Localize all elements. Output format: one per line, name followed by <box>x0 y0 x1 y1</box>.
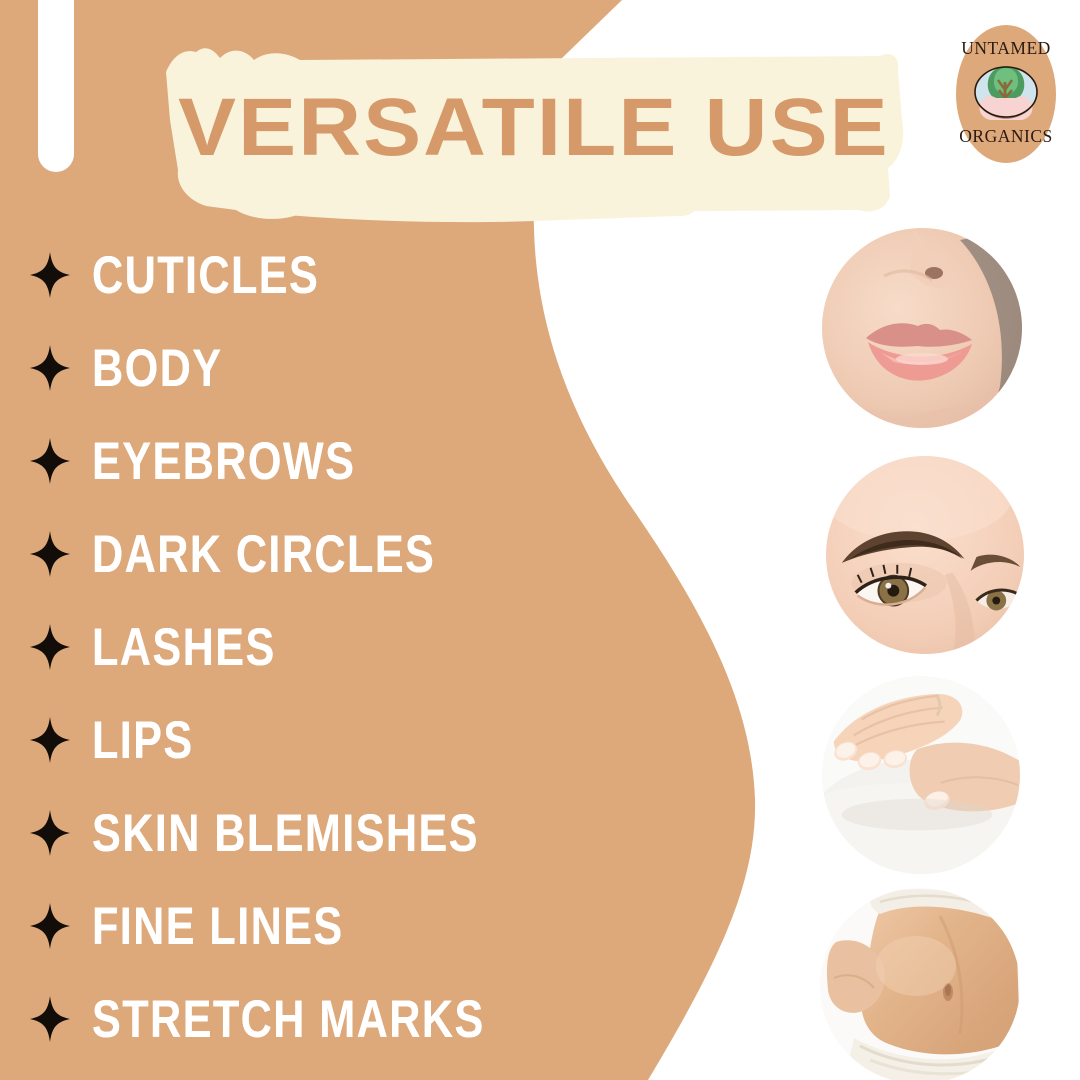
logo-plant-emblem <box>975 66 1037 120</box>
list-item-label: DARK CIRCLES <box>92 523 435 585</box>
list-item: SKIN BLEMISHES <box>0 786 560 879</box>
versatile-use-list: CUTICLES BODY EYEBROWS DARK CIRCLES LASH <box>0 228 560 1065</box>
four-point-star-icon <box>30 996 70 1042</box>
list-item-label: EYEBROWS <box>92 430 355 492</box>
list-item-label: SKIN BLEMISHES <box>92 802 479 864</box>
photo-lips-and-nose-closeup <box>822 228 1022 428</box>
four-point-star-icon <box>30 903 70 949</box>
four-point-star-icon <box>30 345 70 391</box>
list-item: CUTICLES <box>0 228 560 321</box>
four-point-star-icon <box>30 717 70 763</box>
photo-stomach-and-waist-closeup <box>820 888 1020 1080</box>
page-title: VERSATILE USE <box>178 76 941 180</box>
photo-eyebrow-and-eye-closeup <box>826 456 1024 654</box>
list-item: LASHES <box>0 600 560 693</box>
list-item: STRETCH MARKS <box>0 972 560 1065</box>
logo-top-text: UNTAMED <box>961 38 1051 58</box>
list-item-label: CUTICLES <box>92 244 319 306</box>
list-item-label: LIPS <box>92 709 194 771</box>
four-point-star-icon <box>30 531 70 577</box>
list-item-label: FINE LINES <box>92 895 344 957</box>
four-point-star-icon <box>30 624 70 670</box>
four-point-star-icon <box>30 252 70 298</box>
four-point-star-icon <box>30 810 70 856</box>
title-block: VERSATILE USE <box>150 44 910 214</box>
list-item: LIPS <box>0 693 560 786</box>
logo-bottom-text: ORGANICS <box>959 126 1052 146</box>
brand-logo: UNTAMED ORGANICS <box>954 24 1058 164</box>
infographic-canvas: VERSATILE USE UNTAMED ORGANICS <box>0 0 1080 1080</box>
list-item: BODY <box>0 321 560 414</box>
list-item: EYEBROWS <box>0 414 560 507</box>
list-item: DARK CIRCLES <box>0 507 560 600</box>
list-item-label: LASHES <box>92 616 276 678</box>
accent-bar <box>38 0 74 172</box>
list-item-label: BODY <box>92 337 222 399</box>
four-point-star-icon <box>30 438 70 484</box>
photo-hands-and-nails-closeup <box>822 676 1020 874</box>
list-item-label: STRETCH MARKS <box>92 988 485 1050</box>
list-item: FINE LINES <box>0 879 560 972</box>
